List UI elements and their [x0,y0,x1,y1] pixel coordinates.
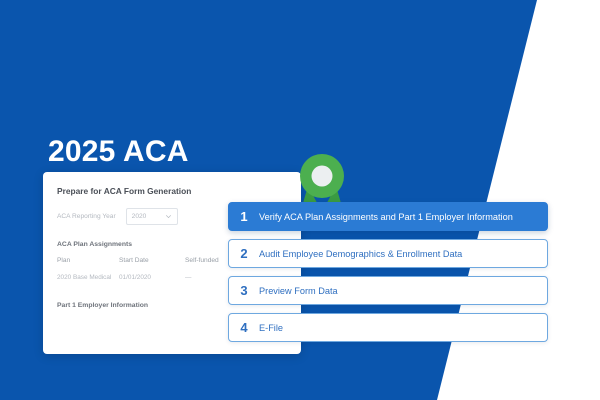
step-number: 4 [229,321,259,334]
step-label: Verify ACA Plan Assignments and Part 1 E… [259,212,513,222]
step-number: 3 [229,284,259,297]
card-title: Prepare for ACA Form Generation [43,186,301,196]
step-number: 2 [229,247,259,260]
cell-start-date: 01/01/2020 [119,273,185,282]
reporting-year-select[interactable]: 2020 [126,208,178,225]
step-number: 1 [229,210,259,223]
column-header-plan: Plan [57,257,119,264]
step-label: Audit Employee Demographics & Enrollment… [259,249,462,259]
step-item-3[interactable]: 3 Preview Form Data [228,276,548,305]
step-item-2[interactable]: 2 Audit Employee Demographics & Enrollme… [228,239,548,268]
column-header-start-date: Start Date [119,257,185,264]
best-practices-step-list: 1 Verify ACA Plan Assignments and Part 1… [228,202,548,350]
slide-canvas: 2025 ACA Best Practices Prepare for ACA … [0,0,600,400]
step-item-1[interactable]: 1 Verify ACA Plan Assignments and Part 1… [228,202,548,231]
reporting-year-label: ACA Reporting Year [57,213,116,220]
page-title-line-1: 2025 ACA [48,132,258,172]
step-label: E-File [259,323,283,333]
cell-plan: 2020 Base Medical [57,273,119,282]
reporting-year-value: 2020 [132,213,147,220]
step-item-4[interactable]: 4 E-File [228,313,548,342]
chevron-down-icon [165,213,172,220]
step-label: Preview Form Data [259,286,338,296]
